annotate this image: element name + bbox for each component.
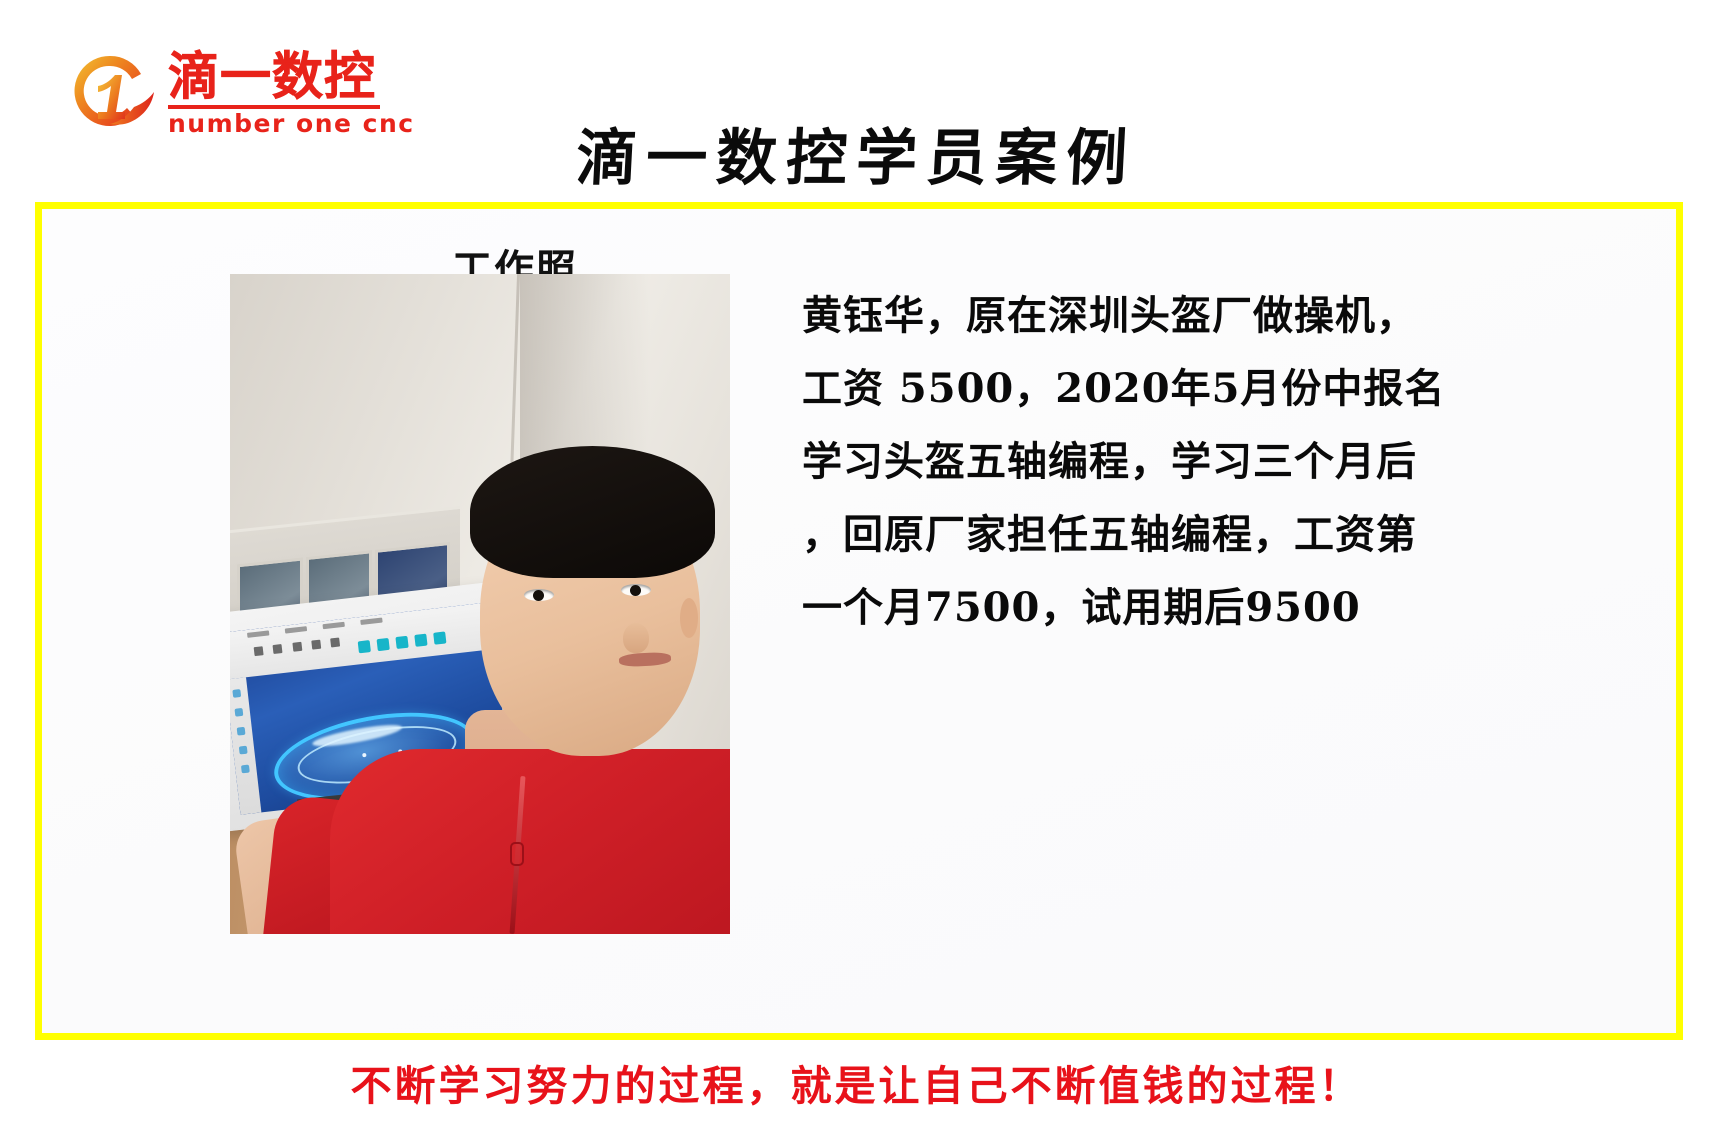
photo-cad-ribbon [230, 602, 496, 680]
story-line: 工资 5500，2020年5月份中报名 [802, 352, 1592, 425]
photo-person-hair [470, 446, 715, 578]
story-line: ，回原厂家担任五轴编程，工资第 [802, 498, 1592, 571]
page-title: 滴一数控学员案例 [0, 108, 1713, 197]
photo-cad-sidebar [230, 678, 262, 815]
story-line: 黄钰华，原在深圳头盔厂做操机， [802, 279, 1592, 352]
photo-person-nose [623, 623, 649, 653]
photo-jacket-zipper-pull [510, 842, 524, 866]
page-header: 滴一数控 number one cnc 滴一数控学员案例 [0, 0, 1713, 205]
photo-person-mouth [618, 652, 671, 668]
photo-person-ear [680, 598, 698, 638]
story-line: 一个月7500，试用期后9500 [802, 571, 1592, 644]
story-line: 学习头盔五轴编程，学习三个月后 [802, 425, 1592, 498]
photo-person-jacket [330, 749, 730, 934]
student-work-photo [230, 274, 730, 934]
logo-chinese-name: 滴一数控 [168, 54, 415, 103]
student-story-text: 黄钰华，原在深圳头盔厂做操机， 工资 5500，2020年5月份中报名 学习头盔… [802, 279, 1592, 644]
content-frame: 工作照 [35, 202, 1683, 1040]
bottom-slogan: 不断学习努力的过程，就是让自己不断值钱的过程！ [0, 1052, 1713, 1112]
